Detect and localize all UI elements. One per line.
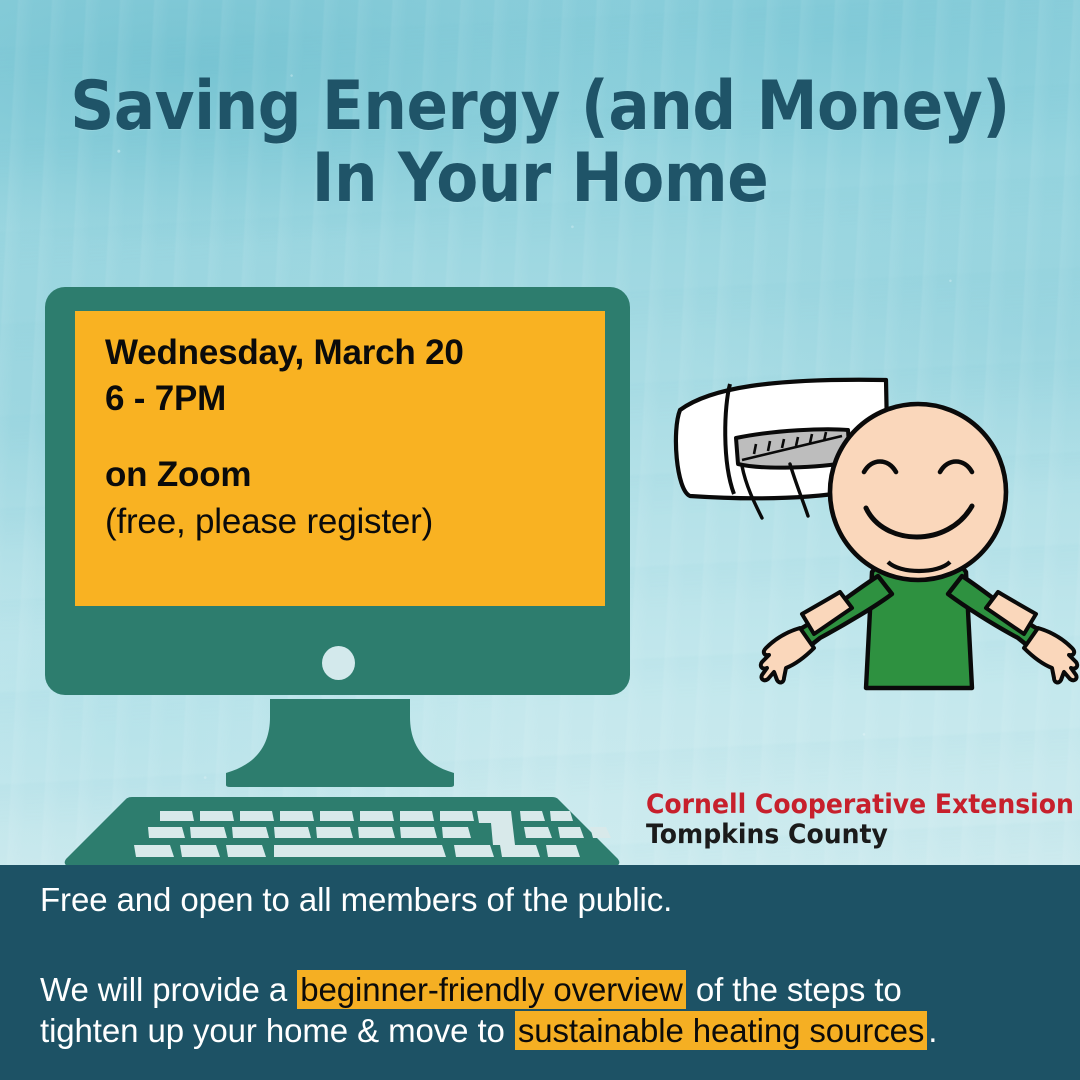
event-date: Wednesday, March 20: [105, 330, 605, 376]
title-line-2: In Your Home: [54, 146, 1026, 212]
page-title: Saving Energy (and Money) In Your Home: [0, 74, 1080, 212]
banner-line-3-post: .: [928, 1012, 937, 1049]
poster-canvas: Saving Energy (and Money) In Your Home W…: [0, 0, 1080, 1080]
cce-logo-line-2: Tompkins County: [646, 821, 1046, 849]
event-registration-note: (free, please register): [105, 499, 605, 545]
webcam-dot-icon: [322, 646, 355, 680]
banner-highlight-heating-sources: sustainable heating sources: [515, 1011, 927, 1050]
cce-logo: Cornell Cooperative Extension Tompkins C…: [646, 791, 1076, 848]
banner-line-3-pre: tighten up your home & move to: [40, 1012, 514, 1049]
event-platform: on Zoom: [105, 452, 605, 498]
banner-line-2: We will provide a beginner-friendly over…: [40, 971, 902, 1009]
event-detail-spacer: [105, 422, 605, 452]
heat-pump-illustration: [650, 370, 1080, 710]
keyboard-icon: [62, 797, 622, 869]
event-time: 6 - 7PM: [105, 376, 605, 422]
banner-line-2-pre: We will provide a: [40, 971, 296, 1008]
banner-highlight-overview: beginner-friendly overview: [297, 970, 686, 1009]
banner-line-2-post: of the steps to: [687, 971, 902, 1008]
monitor-stand-icon: [226, 699, 454, 787]
event-details-block: Wednesday, March 20 6 - 7PM on Zoom (fre…: [105, 330, 605, 545]
banner-line-1: Free and open to all members of the publ…: [40, 881, 672, 919]
title-line-1: Saving Energy (and Money): [54, 74, 1026, 140]
cce-logo-line-1: Cornell Cooperative Extension: [646, 791, 1046, 819]
banner-line-3: tighten up your home & move to sustainab…: [40, 1012, 937, 1050]
